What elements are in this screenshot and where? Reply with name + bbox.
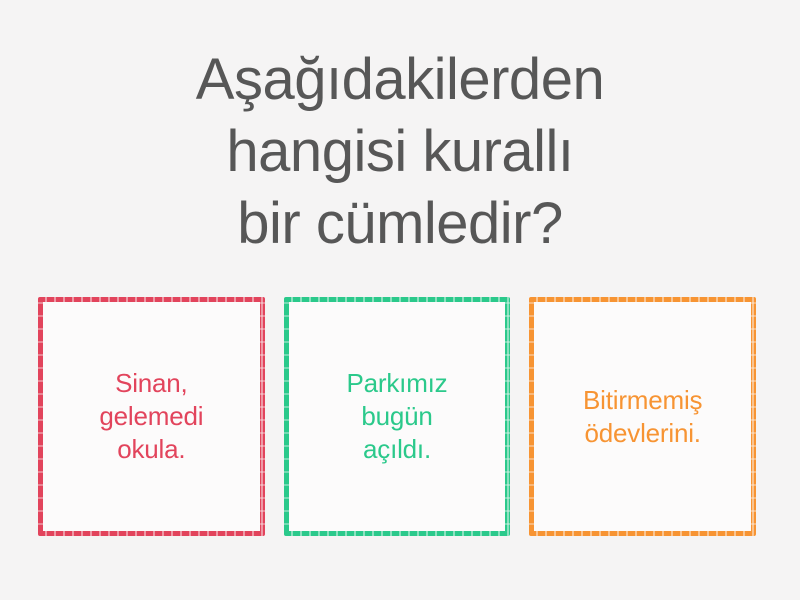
- quiz-stage: Aşağıdakilerden hangisi kurallı bir cüml…: [0, 0, 800, 600]
- answer-option-c-label: Bitirmemiş ödevlerini.: [583, 384, 702, 450]
- answer-option-c[interactable]: Bitirmemiş ödevlerini.: [529, 297, 756, 536]
- answer-options-row: Sinan, gelemedi okula. Parkımız bugün aç…: [38, 297, 756, 536]
- question-block: Aşağıdakilerden hangisi kurallı bir cüml…: [0, 44, 800, 260]
- answer-option-b-label: Parkımız bugün açıldı.: [347, 367, 448, 466]
- answer-option-a-label: Sinan, gelemedi okula.: [99, 367, 203, 466]
- question-text: Aşağıdakilerden hangisi kurallı bir cüml…: [40, 44, 760, 260]
- answer-option-a[interactable]: Sinan, gelemedi okula.: [38, 297, 265, 536]
- answer-option-b[interactable]: Parkımız bugün açıldı.: [284, 297, 511, 536]
